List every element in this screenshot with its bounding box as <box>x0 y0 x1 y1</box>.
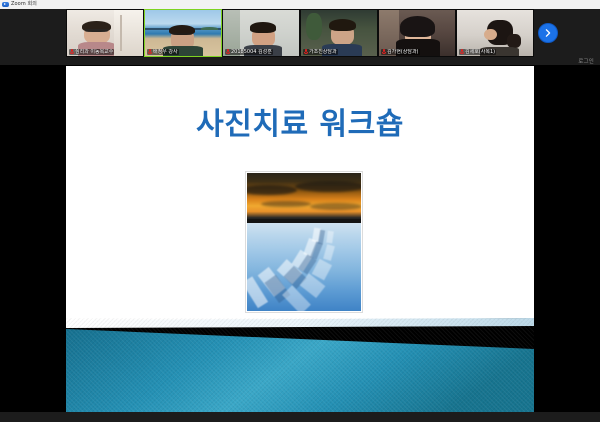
participant-name: 20185004 김성훈 <box>231 49 272 55</box>
zoom-meeting-window: Zoom 회의 심리과 이동복교수 <box>0 0 600 422</box>
mic-muted-icon <box>460 49 464 55</box>
participant-name: 심리과 이동복교수 <box>75 49 113 55</box>
next-page-button[interactable] <box>538 23 558 43</box>
participant-name-badge: 배정우 강사 <box>147 49 179 55</box>
title-bar-content: Zoom 회의 <box>0 0 600 9</box>
participant-tile[interactable]: 배정우 강사 <box>144 9 222 57</box>
participant-name-badge: 가조진상담과 <box>303 49 338 55</box>
photo-sky <box>247 173 361 220</box>
participant-name-badge: 김가현(상담과) <box>381 49 420 55</box>
slide-photo <box>245 171 363 313</box>
chevron-right-icon <box>543 28 553 38</box>
slide-title: 사진치료 워크숍 <box>66 108 534 141</box>
participant-tile[interactable]: 김가현(상담과) <box>378 9 456 57</box>
participant-tile[interactable]: 심리과 이동복교수 <box>66 9 144 57</box>
bottom-chrome-band <box>0 412 600 422</box>
participant-tile[interactable]: 20185004 김성훈 <box>222 9 300 57</box>
participant-name-badge: 심리과 이동복교수 <box>69 49 114 55</box>
mic-muted-icon <box>382 49 386 55</box>
zoom-logo-icon <box>2 2 9 7</box>
participant-filmstrip: 심리과 이동복교수 배정우 강사 <box>66 9 534 57</box>
participant-name: 배정우 강사 <box>153 49 178 55</box>
mic-muted-icon <box>226 49 230 55</box>
participant-tile[interactable]: 가조진상담과 <box>300 9 378 57</box>
photo-canvas <box>247 173 361 311</box>
mic-muted-icon <box>304 49 308 55</box>
slide-decorative-band <box>66 318 534 412</box>
participant-name-badge: 김세호(사복1) <box>459 49 496 55</box>
participant-name: 김가현(상담과) <box>387 49 419 55</box>
participant-tile[interactable]: 김세호(사복1) <box>456 9 534 57</box>
window-title-bar: Zoom 회의 <box>0 0 600 8</box>
mic-muted-icon <box>148 49 152 55</box>
participant-name-badge: 20185004 김성훈 <box>225 49 273 55</box>
participant-name: 가조진상담과 <box>309 49 337 55</box>
shared-screen-slide: 사진치료 워크숍 <box>66 66 534 412</box>
login-button[interactable]: 로그인 <box>578 60 594 66</box>
mic-muted-icon <box>70 49 74 55</box>
window-title: Zoom 회의 <box>11 2 37 7</box>
participant-name: 김세호(사복1) <box>465 49 495 55</box>
